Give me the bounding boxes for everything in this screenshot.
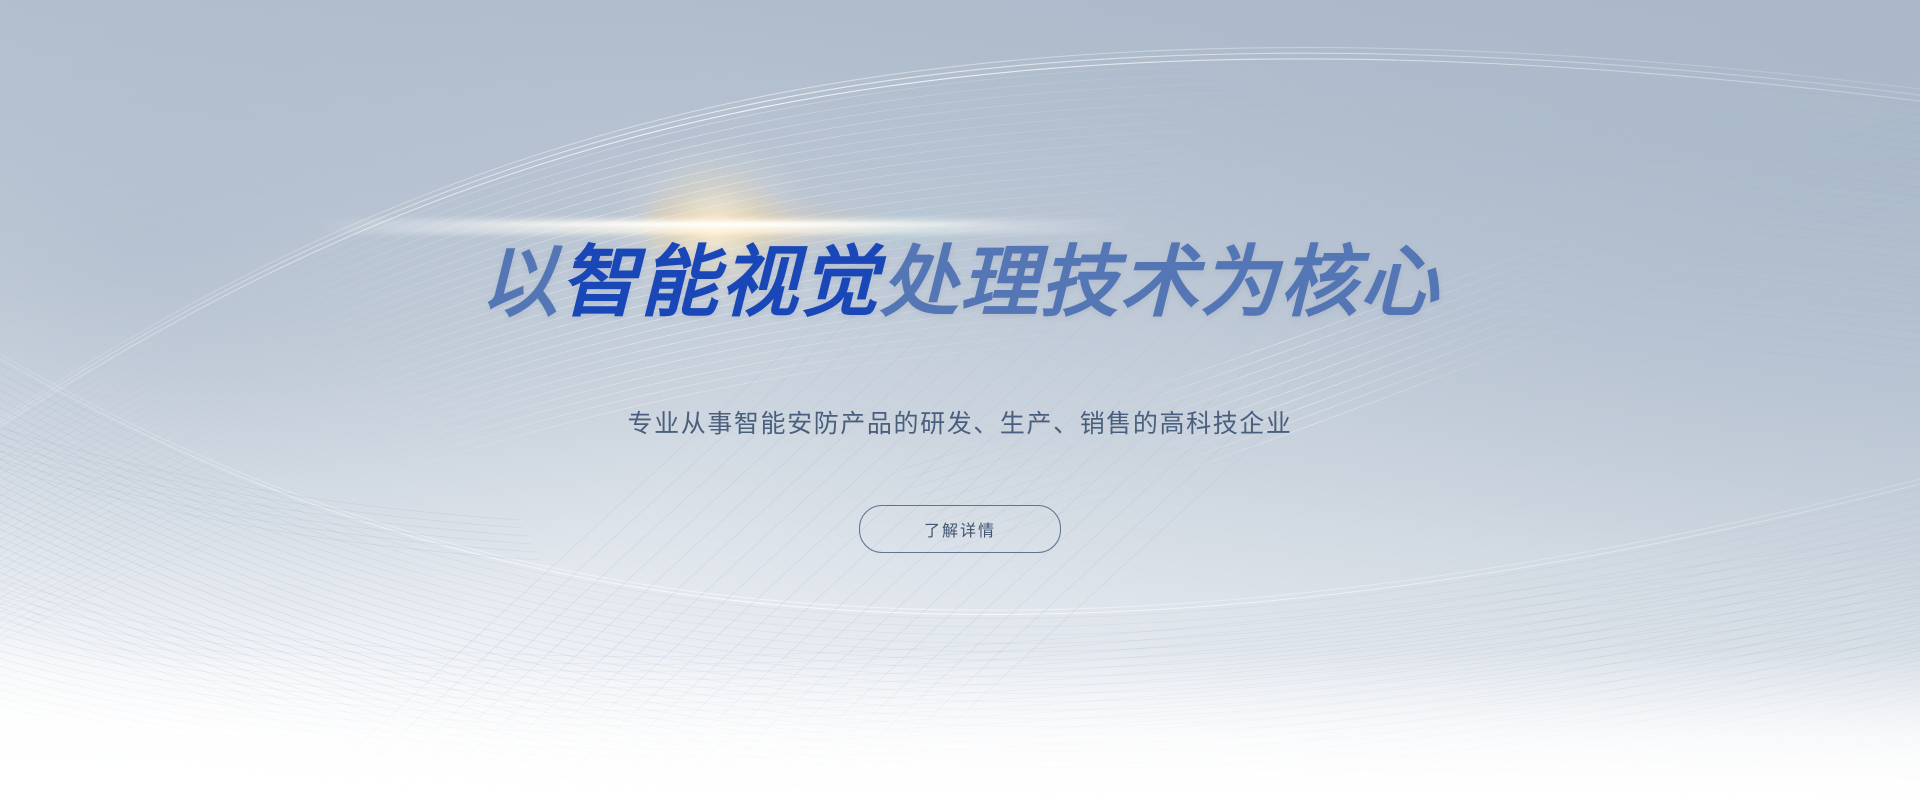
learn-more-button[interactable]: 了解详情: [859, 505, 1061, 553]
hero-content: 以智能视觉处理技术为核心 专业从事智能安防产品的研发、生产、销售的高科技企业 了…: [0, 0, 1920, 800]
page-title-suffix: 处理技术为核心: [880, 238, 1440, 328]
page-title-emphasis: 智能视觉: [560, 238, 880, 328]
page-subtitle: 专业从事智能安防产品的研发、生产、销售的高科技企业: [627, 411, 1292, 436]
page-title: 以智能视觉处理技术为核心: [480, 244, 1440, 322]
page-title-prefix: 以: [480, 238, 560, 328]
hero-banner: 以智能视觉处理技术为核心 专业从事智能安防产品的研发、生产、销售的高科技企业 了…: [0, 0, 1920, 800]
